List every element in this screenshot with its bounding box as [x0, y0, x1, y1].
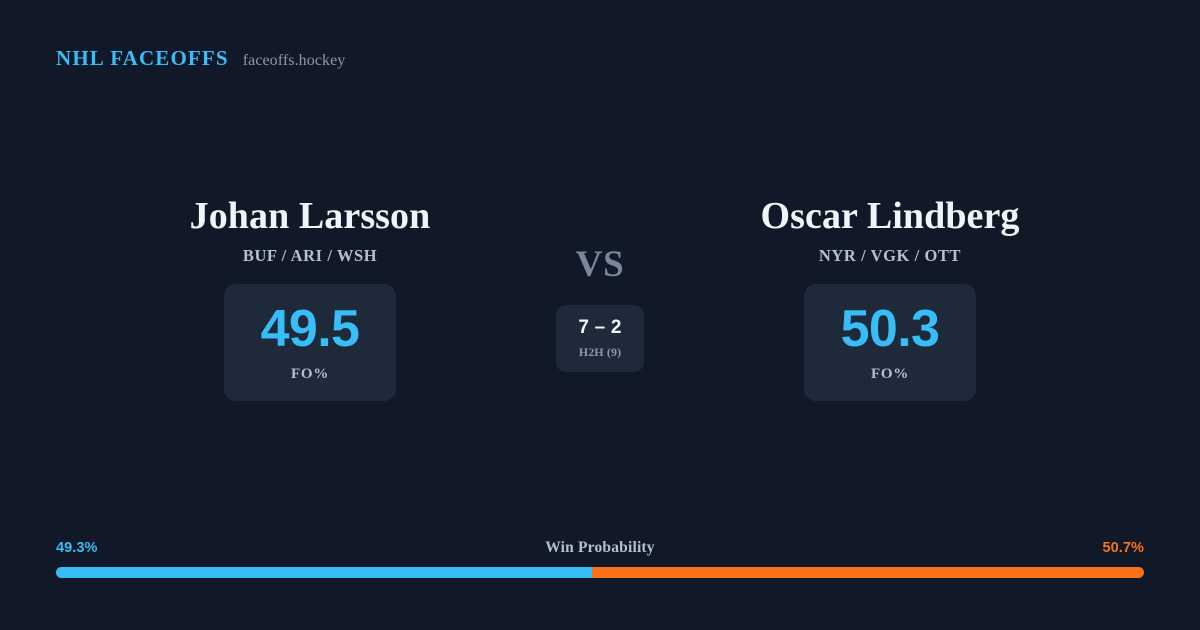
- head-to-head-box: 7 – 2 H2H (9): [556, 305, 644, 372]
- head-to-head-score: 7 – 2: [578, 318, 621, 337]
- stat-label-right: FO%: [871, 366, 909, 383]
- player-teams-left: BUF / ARI / WSH: [243, 246, 377, 266]
- brand-title: NHL FACEOFFS: [56, 46, 229, 71]
- stat-card-left: 49.5 FO%: [224, 284, 396, 401]
- head-to-head-label: H2H (9): [579, 345, 622, 360]
- brand-header: NHL FACEOFFS faceoffs.hockey: [56, 46, 345, 71]
- player-name-right: Oscar Lindberg: [761, 196, 1020, 237]
- win-probability-bar: [56, 567, 1144, 578]
- stat-label-left: FO%: [291, 366, 329, 383]
- player-card-right: Oscar Lindberg NYR / VGK / OTT 50.3 FO%: [670, 196, 1110, 401]
- matchup-row: Johan Larsson BUF / ARI / WSH 49.5 FO% V…: [0, 196, 1200, 401]
- brand-domain: faceoffs.hockey: [243, 52, 346, 70]
- versus-column: VS 7 – 2 H2H (9): [530, 196, 670, 372]
- win-probability-section: 49.3% Win Probability 50.7%: [56, 538, 1144, 578]
- player-teams-right: NYR / VGK / OTT: [819, 246, 961, 266]
- player-card-left: Johan Larsson BUF / ARI / WSH 49.5 FO%: [90, 196, 530, 401]
- win-probability-bar-left-fill: [56, 567, 592, 578]
- win-probability-title: Win Probability: [56, 539, 1144, 557]
- player-name-left: Johan Larsson: [190, 196, 431, 237]
- matchup-graphic: NHL FACEOFFS faceoffs.hockey Johan Larss…: [0, 0, 1200, 630]
- stat-value-left: 49.5: [261, 303, 360, 355]
- versus-label: VS: [576, 246, 625, 283]
- stat-value-right: 50.3: [841, 303, 940, 355]
- win-probability-labels: 49.3% Win Probability 50.7%: [56, 538, 1144, 558]
- stat-card-right: 50.3 FO%: [804, 284, 976, 401]
